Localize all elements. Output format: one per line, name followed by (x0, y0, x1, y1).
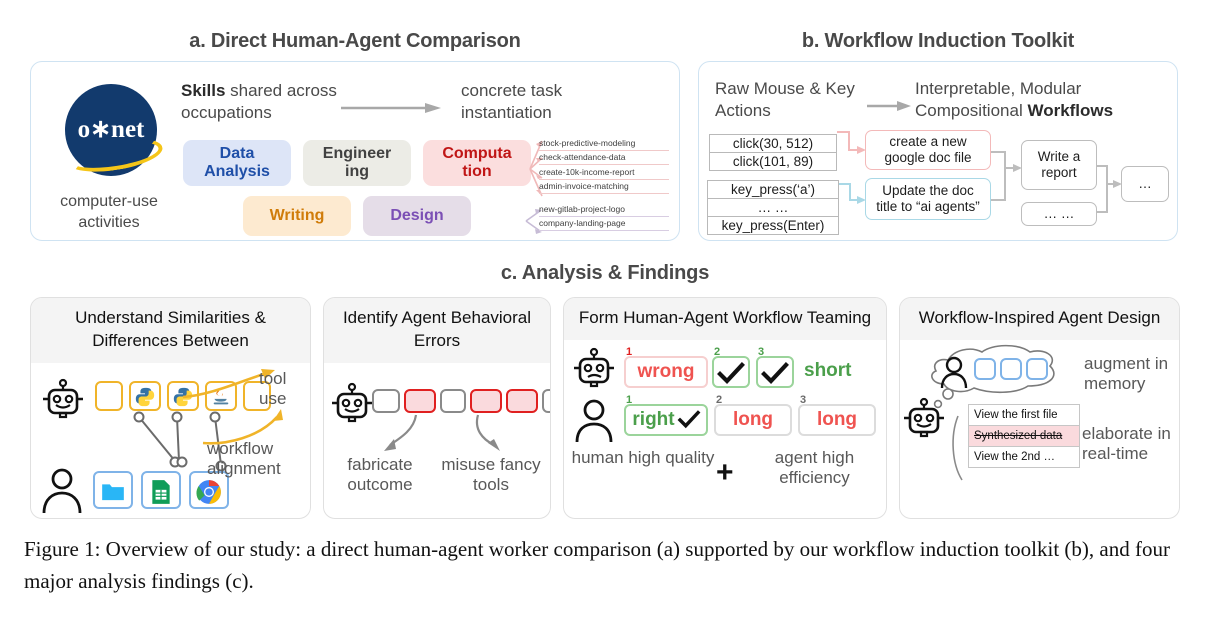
agent-step-check[interactable] (756, 356, 794, 388)
workflow-step-write-report[interactable]: Write a report (1021, 140, 1097, 190)
memory-step-empty[interactable] (1026, 358, 1048, 380)
card-body: tool use workflow alignment (31, 363, 310, 519)
misuse-fancy-tools-label: misuse fancy tools (436, 455, 546, 496)
human-step-folder[interactable] (93, 471, 133, 509)
human-step-right[interactable]: right (624, 404, 708, 436)
list-item[interactable]: View the 2nd … (969, 447, 1079, 467)
card-body: fabricate outcome misuse fancy tools (324, 363, 550, 519)
memory-step-empty[interactable] (1000, 358, 1022, 380)
card-heading: Understand Similarities & Differences Be… (31, 298, 310, 363)
workflow-alignment-label: workflow alignment (207, 439, 311, 480)
robot-icon (902, 398, 946, 442)
card-heading: Form Human-Agent Workflow Teaming (564, 298, 886, 340)
person-icon (574, 398, 614, 442)
card-heading: Workflow-Inspired Agent Design (900, 298, 1179, 340)
list-item[interactable]: View the first file (969, 405, 1079, 425)
human-step-sheets[interactable] (141, 471, 181, 509)
skill-chip-design[interactable]: Design (363, 196, 471, 236)
agent-step-wrong[interactable]: wrong (624, 356, 708, 388)
human-step-long[interactable]: long (714, 404, 792, 436)
panel-b-box: Raw Mouse & Key Actions Interpretable, M… (698, 61, 1178, 241)
action-group-keys: key_press(‘a’) … … key_press(Enter) (707, 180, 839, 235)
error-step-ok[interactable] (440, 389, 466, 413)
action-item: … … (708, 198, 838, 216)
skill-chip-writing[interactable]: Writing (243, 196, 351, 236)
agent-high-efficiency-label: agent high efficiency (742, 448, 887, 489)
fabricate-outcome-label: fabricate outcome (330, 455, 430, 496)
top-row: a. Direct Human-Agent Comparison o∗net S… (0, 30, 1210, 255)
panel-c-title: c. Analysis & Findings (0, 262, 1210, 285)
human-step-long[interactable]: long (798, 404, 876, 436)
person-icon (41, 467, 83, 513)
skill-chip-computation[interactable]: Computa tion (423, 140, 531, 186)
panel-a-title: a. Direct Human-Agent Comparison (30, 30, 680, 53)
card-body: View the first file Synthesized data Vie… (900, 340, 1179, 500)
action-item: key_press(‘a’) (708, 181, 838, 198)
task-item: stock-predictive-modeling (539, 136, 669, 151)
check-icon (678, 411, 700, 429)
action-item: click(101, 89) (710, 152, 836, 170)
memory-step-empty[interactable] (974, 358, 996, 380)
action-group-clicks: click(30, 512) click(101, 89) (709, 134, 837, 171)
skill-chip-engineering[interactable]: Engineer ing (303, 140, 411, 186)
agent-step-python[interactable] (129, 381, 161, 411)
findings-cards: Understand Similarities & Differences Be… (30, 297, 1180, 519)
human-high-quality-label: human high quality (568, 448, 718, 468)
workflows-label-bold: Workflows (1027, 101, 1113, 120)
panel-b-title: b. Workflow Induction Toolkit (698, 30, 1178, 53)
final-connector-icon (1097, 162, 1123, 218)
merge-connector-icon (991, 146, 1023, 206)
person-icon (940, 356, 968, 388)
workflow-step-more[interactable]: … … (1021, 202, 1097, 226)
panel-b: b. Workflow Induction Toolkit Raw Mouse … (698, 30, 1178, 241)
elaborate-realtime-label: elaborate in real-time (1082, 424, 1180, 465)
onet-logo-text: o∗net (59, 114, 163, 144)
robot-icon (330, 383, 374, 425)
card-workflow-teaming: Form Human-Agent Workflow Teaming 1 wron… (563, 297, 887, 519)
raw-actions-label: Raw Mouse & Key Actions (715, 78, 865, 122)
misuse-pointer-icon (436, 413, 520, 455)
task-item: admin-invoice-matching (539, 180, 669, 195)
skill-chip-data-analysis[interactable]: Data Analysis (183, 140, 291, 186)
panel-a-box: o∗net Skills shared across occupations c… (30, 61, 680, 241)
card-heading: Identify Agent Behavioral Errors (324, 298, 550, 363)
blue-connector-icon (839, 180, 867, 216)
agent-short-label: short (804, 360, 852, 382)
elaboration-list: View the first file Synthesized data Vie… (968, 404, 1080, 468)
action-item: click(30, 512) (710, 135, 836, 152)
induction-arrow-icon (867, 100, 911, 112)
skills-heading-bold: Skills (181, 81, 225, 100)
list-item-struck[interactable]: Synthesized data (969, 425, 1079, 447)
panel-a: a. Direct Human-Agent Comparison o∗net S… (30, 30, 680, 241)
augment-memory-label: augment in memory (1084, 354, 1180, 395)
fabricate-pointer-icon (372, 413, 432, 455)
concrete-task-label: concrete task instantiation (461, 80, 621, 124)
error-step-error[interactable] (470, 389, 502, 413)
error-step-ok[interactable] (542, 389, 551, 413)
error-step-ok[interactable] (372, 389, 400, 413)
workflow-step-last[interactable]: … (1121, 166, 1169, 202)
task-list-computation: stock-predictive-modeling check-attendan… (539, 136, 669, 194)
robot-sad-icon (572, 348, 616, 392)
task-item: create-10k-income-report (539, 165, 669, 180)
computer-use-activities-label: computer-use activities (39, 192, 179, 234)
card-agent-design: Workflow-Inspired Agent Design (899, 297, 1180, 519)
card-identify-errors: Identify Agent Behavioral Errors (323, 297, 551, 519)
error-step-error[interactable] (404, 389, 436, 413)
card-understand-similarities: Understand Similarities & Differences Be… (30, 297, 311, 519)
red-connector-icon (837, 128, 867, 162)
card-body: 1 wrong 2 3 short 1 (564, 340, 886, 500)
action-item: key_press(Enter) (708, 216, 838, 234)
workflow-step-update-title[interactable]: Update the doc title to “ai agents” (865, 178, 991, 220)
figure-caption: Figure 1: Overview of our study: a direc… (24, 534, 1184, 597)
onet-logo: o∗net (59, 84, 163, 188)
workflow-step-create-doc[interactable]: create a new google doc file (865, 130, 991, 170)
robot-icon (41, 379, 85, 421)
task-item: check-attendance-data (539, 151, 669, 166)
error-step-error[interactable] (506, 389, 538, 413)
task-list-design: new-gitlab-project-logo company-landing-… (539, 202, 669, 231)
human-step-right-label: right (632, 409, 674, 431)
task-item: company-landing-page (539, 217, 669, 232)
agent-step-empty[interactable] (95, 381, 123, 411)
comparison-arrow-icon (341, 102, 441, 114)
plus-icon: + (716, 456, 734, 490)
agent-step-check[interactable] (712, 356, 750, 388)
workflows-label: Interpretable, Modular Compositional Wor… (915, 78, 1165, 122)
task-item: new-gitlab-project-logo (539, 202, 669, 217)
